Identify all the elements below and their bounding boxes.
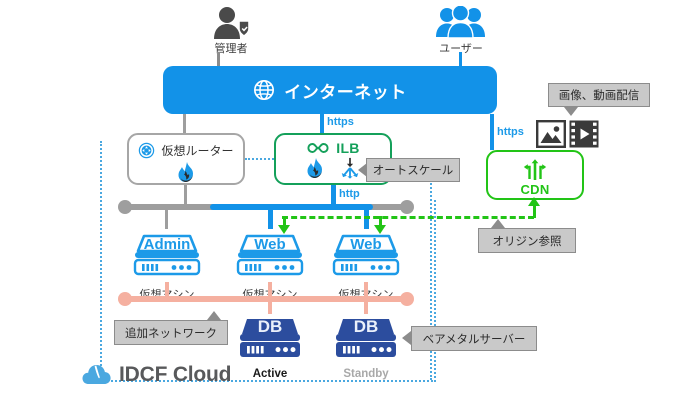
idcf-cloud-name: IDCF Cloud xyxy=(119,363,231,387)
cdn-origin-arrow-up xyxy=(528,197,540,206)
web1-vm-to-pink-bus xyxy=(268,282,272,298)
cdn-origin-path-to-cdn xyxy=(533,206,536,218)
server-icon: Admin xyxy=(126,229,208,279)
bus-right-endpoint xyxy=(400,200,414,214)
https-ilb-label: https xyxy=(327,116,354,128)
additional-network-label: 追加ネットワーク xyxy=(125,325,217,341)
photo-icon xyxy=(536,120,566,148)
users-group-icon xyxy=(433,6,489,40)
db-server-active[interactable]: DB Active xyxy=(234,313,306,380)
autoscale-callout-label: オートスケール xyxy=(373,162,454,178)
ilb-title: ILB xyxy=(306,140,359,156)
db-server-icon: DB xyxy=(330,313,402,361)
server-icon: Web xyxy=(325,229,407,279)
internet-banner: インターネット xyxy=(163,66,497,114)
autoscale-callout-arrow xyxy=(358,163,367,177)
additional-network-callout: 追加ネットワーク xyxy=(114,320,228,345)
db-active-to-pink-bus xyxy=(268,300,272,314)
origin-reference-callout: オリジン参照 xyxy=(478,228,576,253)
additional-network-right-endpoint xyxy=(400,292,414,306)
cdn-label: CDN xyxy=(520,182,549,197)
router-ilb-dotted-link xyxy=(245,158,277,160)
bare-metal-label: ベアメタルサーバー xyxy=(423,331,526,347)
admin-vm-droplink xyxy=(165,207,168,229)
virtual-router-title: 仮想ルーター xyxy=(138,142,233,159)
admin-label: 管理者 xyxy=(196,40,266,56)
db-standby-to-pink-bus xyxy=(364,300,368,314)
internet-label: インターネット xyxy=(284,78,407,103)
additional-network-callout-arrow xyxy=(207,311,221,320)
media-icons xyxy=(536,120,599,148)
cdn-node[interactable]: CDN xyxy=(486,150,584,200)
db-active-caption: Active xyxy=(234,368,306,380)
admin-actor: 管理者 xyxy=(196,6,266,56)
internet-to-cdn-line xyxy=(490,114,494,150)
cdn-arrows-icon xyxy=(521,158,549,182)
additional-network-left-endpoint xyxy=(118,292,132,306)
origin-reference-callout-arrow xyxy=(491,219,505,228)
bus-left-endpoint xyxy=(118,200,132,214)
idcf-cloud-logo-icon xyxy=(82,362,112,388)
idcf-cloud-brand: IDCF Cloud xyxy=(82,362,231,388)
autoscale-callout: オートスケール xyxy=(366,158,460,182)
svg-text:Web: Web xyxy=(254,236,285,253)
ilb-icons xyxy=(305,157,361,179)
admin-vm-to-pink-bus xyxy=(165,282,169,298)
bare-metal-callout: ベアメタルサーバー xyxy=(411,326,537,351)
svg-text:DB: DB xyxy=(354,317,379,336)
internet-to-router-line xyxy=(183,114,186,134)
media-delivery-label: 画像、動画配信 xyxy=(559,87,640,103)
media-delivery-callout: 画像、動画配信 xyxy=(548,83,650,107)
film-play-icon xyxy=(569,120,599,148)
ilb-label: ILB xyxy=(336,140,359,156)
http-label: http xyxy=(339,188,360,200)
media-delivery-callout-arrow xyxy=(564,107,578,116)
infinity-icon xyxy=(306,141,330,155)
origin-reference-label: オリジン参照 xyxy=(493,233,562,249)
flame-icon xyxy=(176,161,196,183)
virtual-router-label: 仮想ルーター xyxy=(161,142,233,159)
globe-icon xyxy=(253,79,275,101)
http-bus-segment xyxy=(210,204,373,210)
admin-person-shield-icon xyxy=(209,6,253,40)
users-actor: ユーザー xyxy=(424,6,498,56)
web2-vm-to-pink-bus xyxy=(364,282,368,298)
server-icon: Web xyxy=(229,229,311,279)
db-standby-caption: Standby xyxy=(330,368,402,380)
diagram-canvas: 管理者 ユーザー インターネット https xyxy=(0,0,692,400)
svg-text:DB: DB xyxy=(258,317,283,336)
virtual-router-icon xyxy=(138,142,155,159)
svg-text:Admin: Admin xyxy=(144,236,191,253)
virtual-router-node[interactable]: 仮想ルーター xyxy=(127,133,245,185)
web1-vm-droplink xyxy=(268,207,273,229)
svg-text:Web: Web xyxy=(350,236,381,253)
flame-icon xyxy=(305,157,325,179)
db-server-icon: DB xyxy=(234,313,306,361)
bare-metal-callout-arrow xyxy=(402,331,411,345)
https-cdn-label: https xyxy=(497,126,524,138)
db-server-standby[interactable]: DB Standby xyxy=(330,313,402,380)
